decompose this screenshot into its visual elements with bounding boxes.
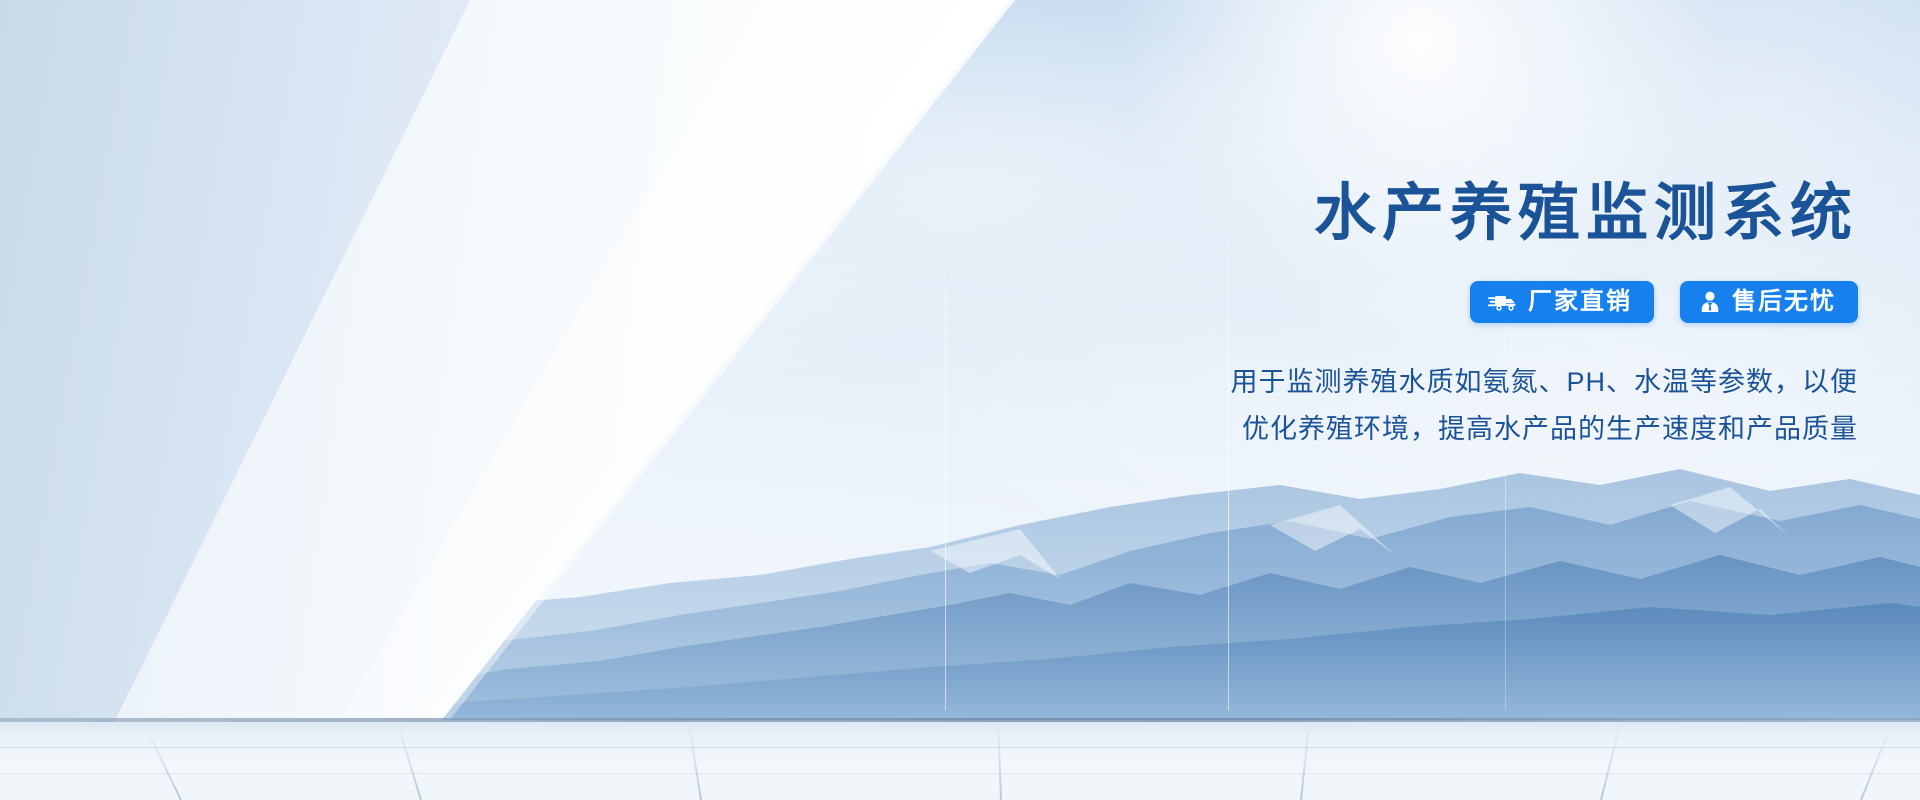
description-line-1: 用于监测养殖水质如氨氮、PH、水温等参数，以便 xyxy=(1038,359,1858,405)
glass-panel-seam xyxy=(945,230,946,710)
badge-factory-direct[interactable]: 厂家直销 xyxy=(1470,281,1654,323)
badge-label: 厂家直销 xyxy=(1528,290,1632,314)
badge-label: 售后无忧 xyxy=(1732,290,1836,314)
hero-content: 水产养殖监测系统 xyxy=(1038,178,1858,452)
page-description: 用于监测养殖水质如氨氮、PH、水温等参数，以便 优化养殖环境，提高水产品的生产速… xyxy=(1038,359,1858,452)
hero-banner: 水产养殖监测系统 xyxy=(0,0,1920,800)
customer-service-person-icon xyxy=(1698,290,1722,314)
tiled-floor xyxy=(0,722,1920,800)
description-line-2: 优化养殖环境，提高水产品的生产速度和产品质量 xyxy=(1038,406,1858,452)
badge-after-sales[interactable]: 售后无忧 xyxy=(1680,281,1858,323)
delivery-truck-icon xyxy=(1488,291,1518,313)
page-title: 水产养殖监测系统 xyxy=(1038,178,1858,249)
badge-list: 厂家直销 售后无忧 xyxy=(1038,281,1858,323)
